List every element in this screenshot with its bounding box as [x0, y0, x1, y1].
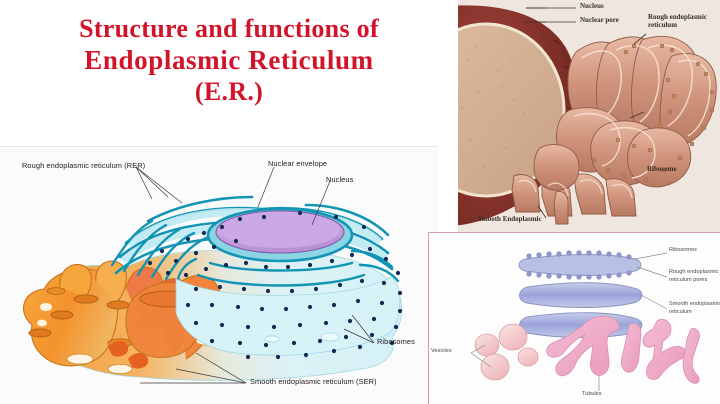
title-line-1: Structure and functions of	[79, 14, 379, 45]
nucleus-shape	[208, 209, 352, 261]
label-nuclear-envelope: Nuclear envelope	[268, 159, 327, 168]
er-overview-artwork	[0, 147, 438, 404]
detail-label-smooth-er: Smooth endoplasmic reticulum	[669, 301, 720, 316]
sepia-label-rough-er: Rough endoplasmic reticulum	[648, 13, 708, 29]
er-detail-artwork	[429, 233, 720, 404]
label-ribosomes: Ribosomes	[377, 337, 415, 346]
detail-label-ribosomes: Ribosomes	[669, 247, 697, 255]
title-line-3: (E.R.)	[195, 77, 263, 108]
sepia-label-smooth-er: Smooth Endoplasmic	[478, 215, 542, 223]
detail-label-rough-er-pores: Rough endoplasmic reticulum pores	[669, 269, 720, 284]
title-line-2: Endoplasmic Reticulum	[84, 45, 373, 77]
smooth-er-cisterna-1	[520, 283, 642, 308]
sepia-er-artwork	[458, 0, 720, 233]
sepia-label-ribosome: Ribosome	[647, 165, 677, 173]
detail-label-vesicles: Vesicles	[431, 348, 452, 356]
er-components-detail-diagram: Ribosomes Rough endoplasmic reticulum po…	[428, 232, 720, 404]
label-smooth-er: Smooth endoplasmic reticulum (SER)	[250, 377, 377, 386]
page-title: Structure and functions of Endoplasmic R…	[0, 6, 458, 142]
detail-label-tubules: Tubules	[582, 391, 602, 399]
rough-er-nucleus-illustration: Nucleus Nuclear pore Rough endoplasmic r…	[458, 0, 720, 235]
sepia-label-nuclear-pore: Nuclear pore	[580, 16, 619, 24]
slide-root: Structure and functions of Endoplasmic R…	[0, 0, 720, 404]
label-rough-er: Rough endoplasmic reticulum (RER)	[22, 161, 145, 170]
label-nucleus: Nucleus	[326, 175, 353, 184]
endoplasmic-reticulum-overview-diagram: Rough endoplasmic reticulum (RER) Nuclea…	[0, 146, 438, 404]
sepia-label-nucleus: Nucleus	[580, 2, 604, 10]
